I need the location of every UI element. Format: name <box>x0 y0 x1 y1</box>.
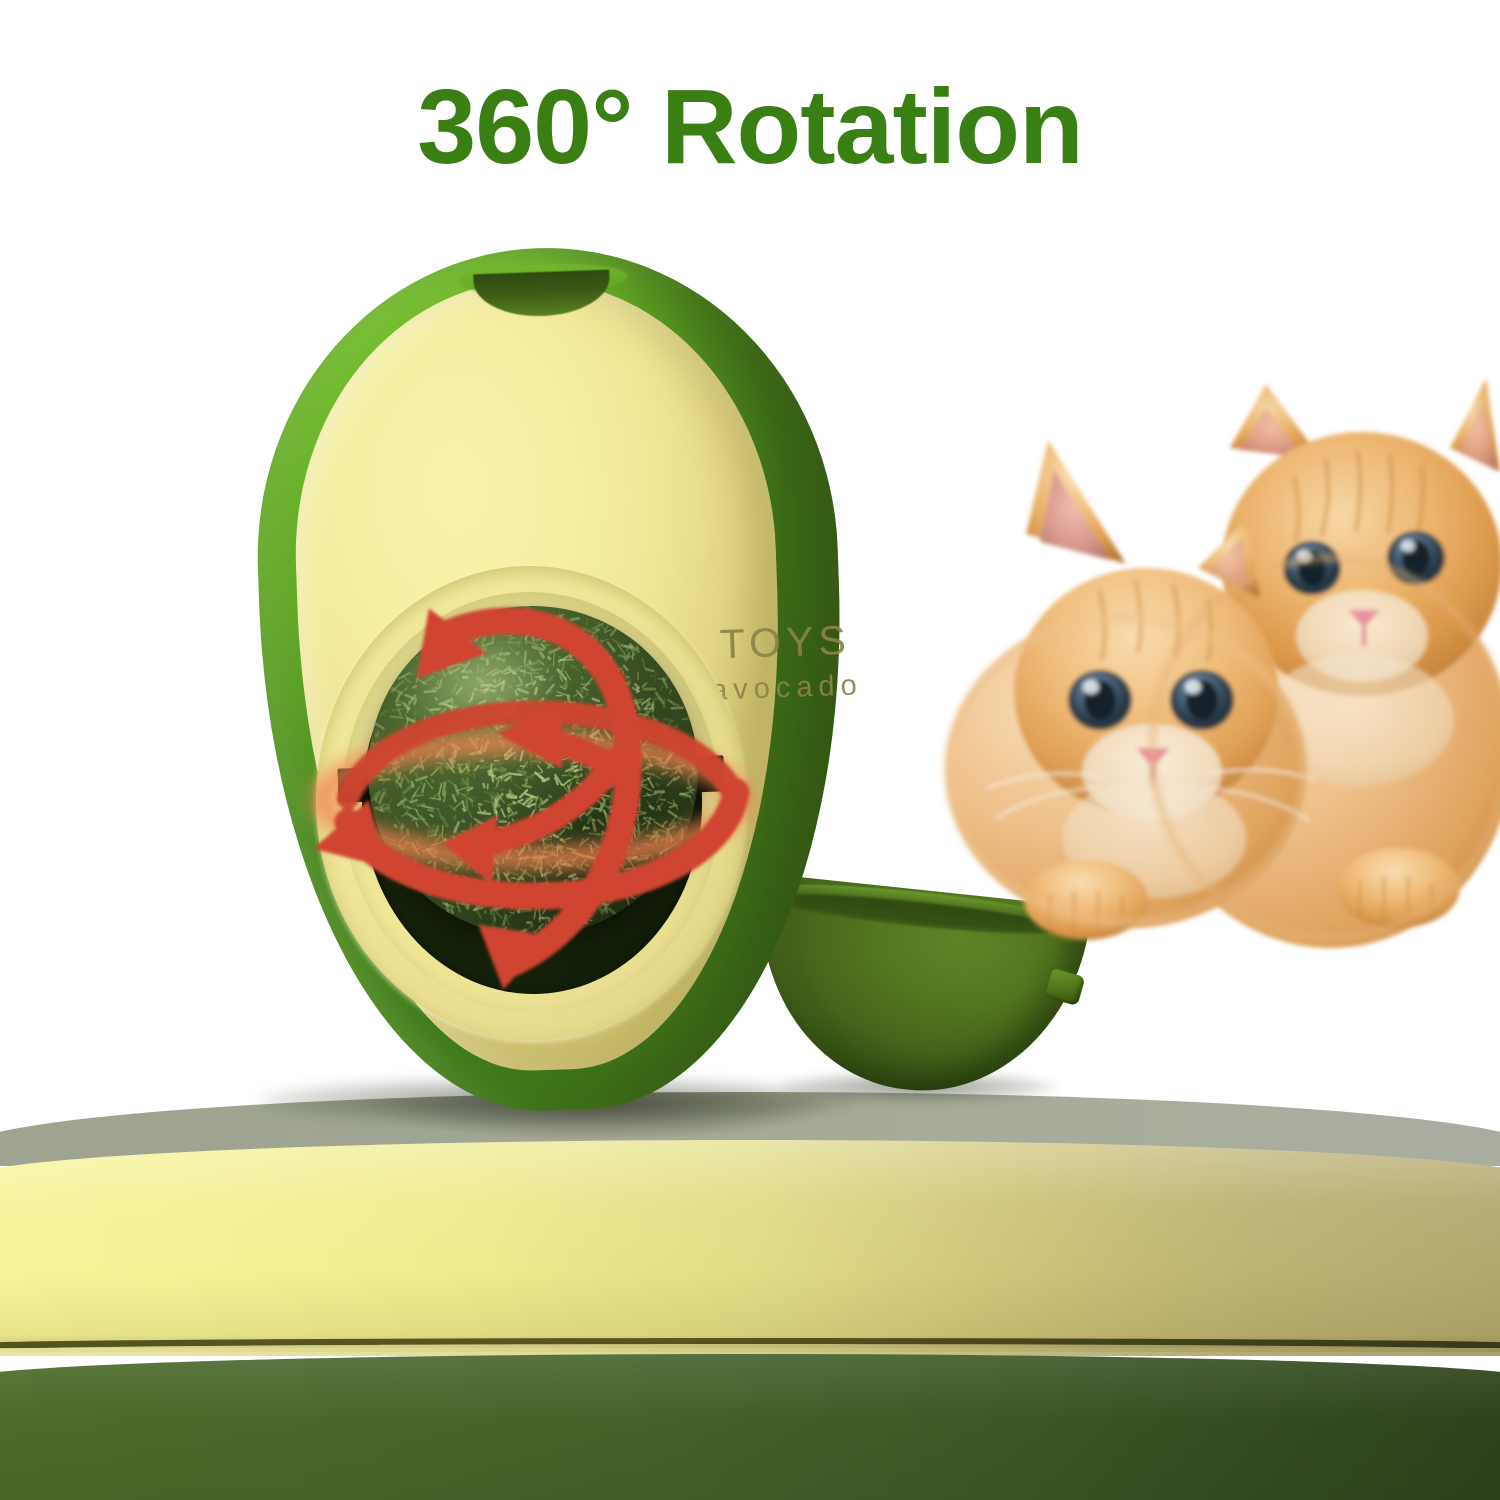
pedestal-base-highlight <box>0 1354 1500 1500</box>
kitten-photo <box>930 352 1500 952</box>
catnip-texture <box>362 600 703 941</box>
page-title: 360° Rotation <box>0 72 1500 183</box>
product-pedestal <box>0 1092 1500 1500</box>
pedestal-band-highlight <box>0 1140 1500 1352</box>
catnip-ball[interactable] <box>362 600 703 941</box>
avocado-toy-body[interactable]: TOYS avocado <box>262 248 842 1110</box>
product-image-canvas: 360° Rotation TOYS avocado <box>0 0 1500 1500</box>
